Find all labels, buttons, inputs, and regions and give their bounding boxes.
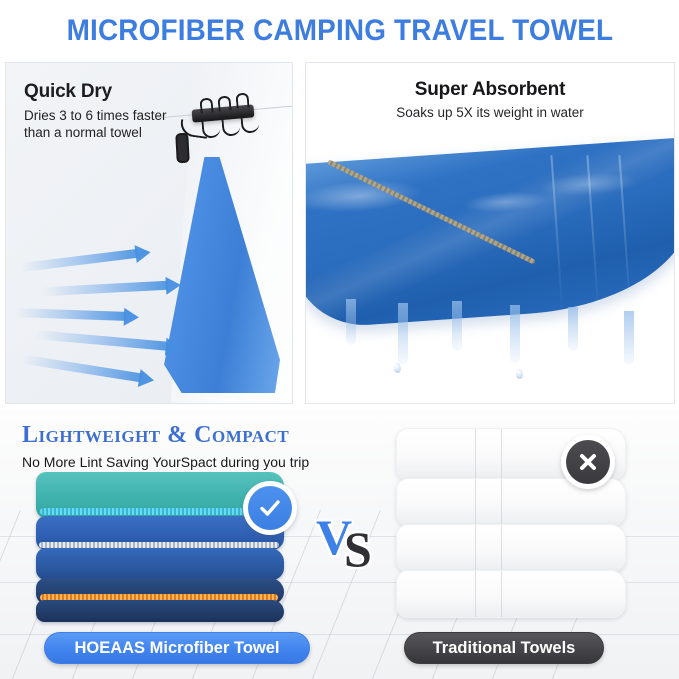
towel-seam — [501, 479, 502, 525]
towel-seam — [475, 429, 476, 479]
airflow-arrows-icon — [14, 248, 199, 398]
carabiner-clip-icon — [175, 133, 190, 164]
quick-dry-subtext-line1: Dries 3 to 6 times faster — [24, 108, 167, 123]
hook-loop-icon — [235, 92, 249, 108]
quick-dry-subtext-line2: than a normal towel — [24, 125, 142, 140]
water-droplet — [516, 369, 523, 379]
towel-layer-navy-bottom — [36, 600, 284, 622]
lightweight-heading: Lightweight & Compact — [22, 422, 289, 449]
white-towel-layer — [396, 570, 626, 618]
water-droplet — [394, 363, 401, 373]
towel-seam — [501, 525, 502, 571]
towel-seam — [475, 525, 476, 571]
hook-icon — [240, 112, 260, 133]
water-drip — [510, 305, 520, 363]
airflow-arrow — [16, 308, 126, 321]
check-badge-icon — [243, 481, 297, 535]
towel-seam — [475, 479, 476, 525]
airflow-arrow — [42, 281, 168, 297]
traditional-label-badge: Traditional Towels — [404, 632, 604, 664]
page-title: MICROFIBER CAMPING TRAVEL TOWEL — [0, 0, 679, 62]
super-absorbent-heading: Super Absorbent — [306, 79, 674, 101]
panel-quick-dry: Quick Dry Dries 3 to 6 times faster than… — [5, 62, 293, 404]
airflow-arrow — [20, 249, 138, 272]
hoeaas-label-badge: HOEAAS Microfiber Towel — [44, 632, 310, 664]
water-drip — [624, 311, 634, 365]
towel-seam — [501, 429, 502, 479]
x-badge-icon — [561, 435, 615, 489]
hook-loop-icon — [217, 95, 231, 111]
hook-icon — [221, 115, 241, 136]
lightweight-subtext: No More Lint Saving YourSpact during you… — [22, 454, 309, 470]
water-drip — [568, 307, 578, 351]
super-absorbent-subtext: Soaks up 5X its weight in water — [306, 105, 674, 120]
check-badge-circle — [248, 486, 292, 530]
towel-layer-blue — [36, 548, 284, 580]
water-drip — [346, 299, 356, 345]
check-mark-icon — [257, 495, 283, 521]
x-badge-circle — [566, 440, 610, 484]
airflow-arrow — [22, 355, 142, 383]
versus-label: V S — [316, 508, 396, 570]
white-towel-layer — [396, 524, 626, 572]
water-drip — [398, 303, 408, 365]
page-title-text: MICROFIBER CAMPING TRAVEL TOWEL — [66, 14, 613, 48]
hook-loop-icon — [199, 97, 213, 113]
versus-s: S — [344, 520, 370, 578]
towel-seam — [475, 571, 476, 617]
hook-rack-icon — [186, 85, 266, 145]
close-icon — [576, 450, 600, 474]
towel-seam — [501, 571, 502, 617]
airflow-arrow — [36, 330, 168, 350]
panel-super-absorbent: Super Absorbent Soaks up 5X its weight i… — [305, 62, 675, 404]
water-drip — [452, 301, 462, 351]
quick-dry-heading: Quick Dry — [24, 81, 112, 103]
product-infographic: MICROFIBER CAMPING TRAVEL TOWEL Quick Dr… — [0, 0, 679, 679]
